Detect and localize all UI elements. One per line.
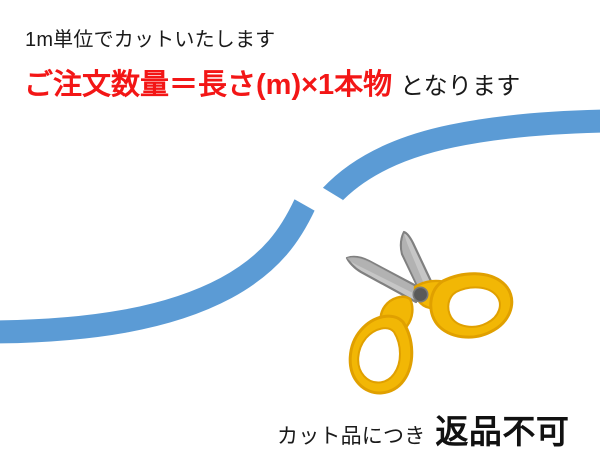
scissors-shank-right xyxy=(415,281,456,309)
headline-cut-unit: 1m単位でカットいたします xyxy=(25,28,275,52)
footnote-prefix: カット品につき xyxy=(277,425,425,448)
headline-order-quantity-tail: となります xyxy=(400,73,520,100)
cut-cable xyxy=(0,121,600,332)
scissors-shank-lower xyxy=(381,297,413,334)
scissors-pivot-icon xyxy=(413,287,427,301)
footnote-no-return: カット品につき返品不可 xyxy=(277,412,569,459)
scissors xyxy=(347,232,512,393)
scissors-blade-lower-edge xyxy=(347,257,421,296)
cable-cut-face-right xyxy=(315,186,343,209)
scissors-handle-lower-hole xyxy=(358,328,400,382)
headline-order-quantity-emphasis: ご注文数量＝長さ(m)×1本物 xyxy=(24,69,392,101)
scissors-blade-lower xyxy=(347,257,422,302)
scissors-handle-right-hole xyxy=(448,287,500,326)
footnote-emphasis: 返品不可 xyxy=(435,413,569,450)
headline-order-quantity: ご注文数量＝長さ(m)×1本物となります xyxy=(24,68,520,107)
scissors-handle-lower xyxy=(350,316,412,393)
scissors-handle-right xyxy=(431,274,512,337)
cable-left-segment xyxy=(0,204,305,332)
scissors-blade-upper-edge xyxy=(402,233,429,299)
scissors-blade-upper xyxy=(401,232,437,300)
cut-notice-graphic: 1m単位でカットいたします ご注文数量＝長さ(m)×1本物となります カット品に… xyxy=(0,0,600,466)
cable-cut-face-left xyxy=(294,190,322,212)
cable-right-segment xyxy=(331,121,600,196)
